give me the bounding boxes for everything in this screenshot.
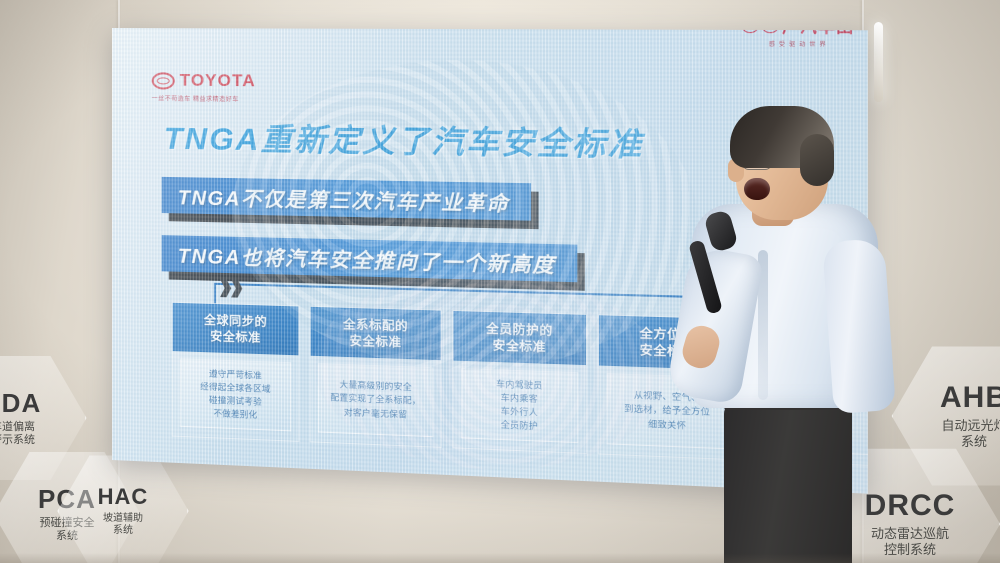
floor-shadow xyxy=(0,553,1000,563)
presenter-hair-side xyxy=(800,134,834,186)
presentation-scene: LDA 车道偏离 警示系统 PCA 预碰撞安全 系统 HAC 坡道辅助 系统 A… xyxy=(0,0,1000,563)
badge-label: 车道偏离 警示系统 xyxy=(0,421,35,447)
badge-code: LDA xyxy=(0,390,41,416)
presenter-mouth xyxy=(744,178,770,200)
badge-label: 自动远光灯 系统 xyxy=(941,418,1000,449)
presenter-right-arm xyxy=(822,238,896,414)
badge-code: AHB xyxy=(940,383,1000,413)
badge-label: 坡道辅助 系统 xyxy=(103,513,143,537)
badge-code: HAC xyxy=(98,486,149,508)
ceiling-lamp-icon xyxy=(874,22,883,102)
presenter-trousers xyxy=(724,400,852,563)
presenter xyxy=(632,100,932,563)
